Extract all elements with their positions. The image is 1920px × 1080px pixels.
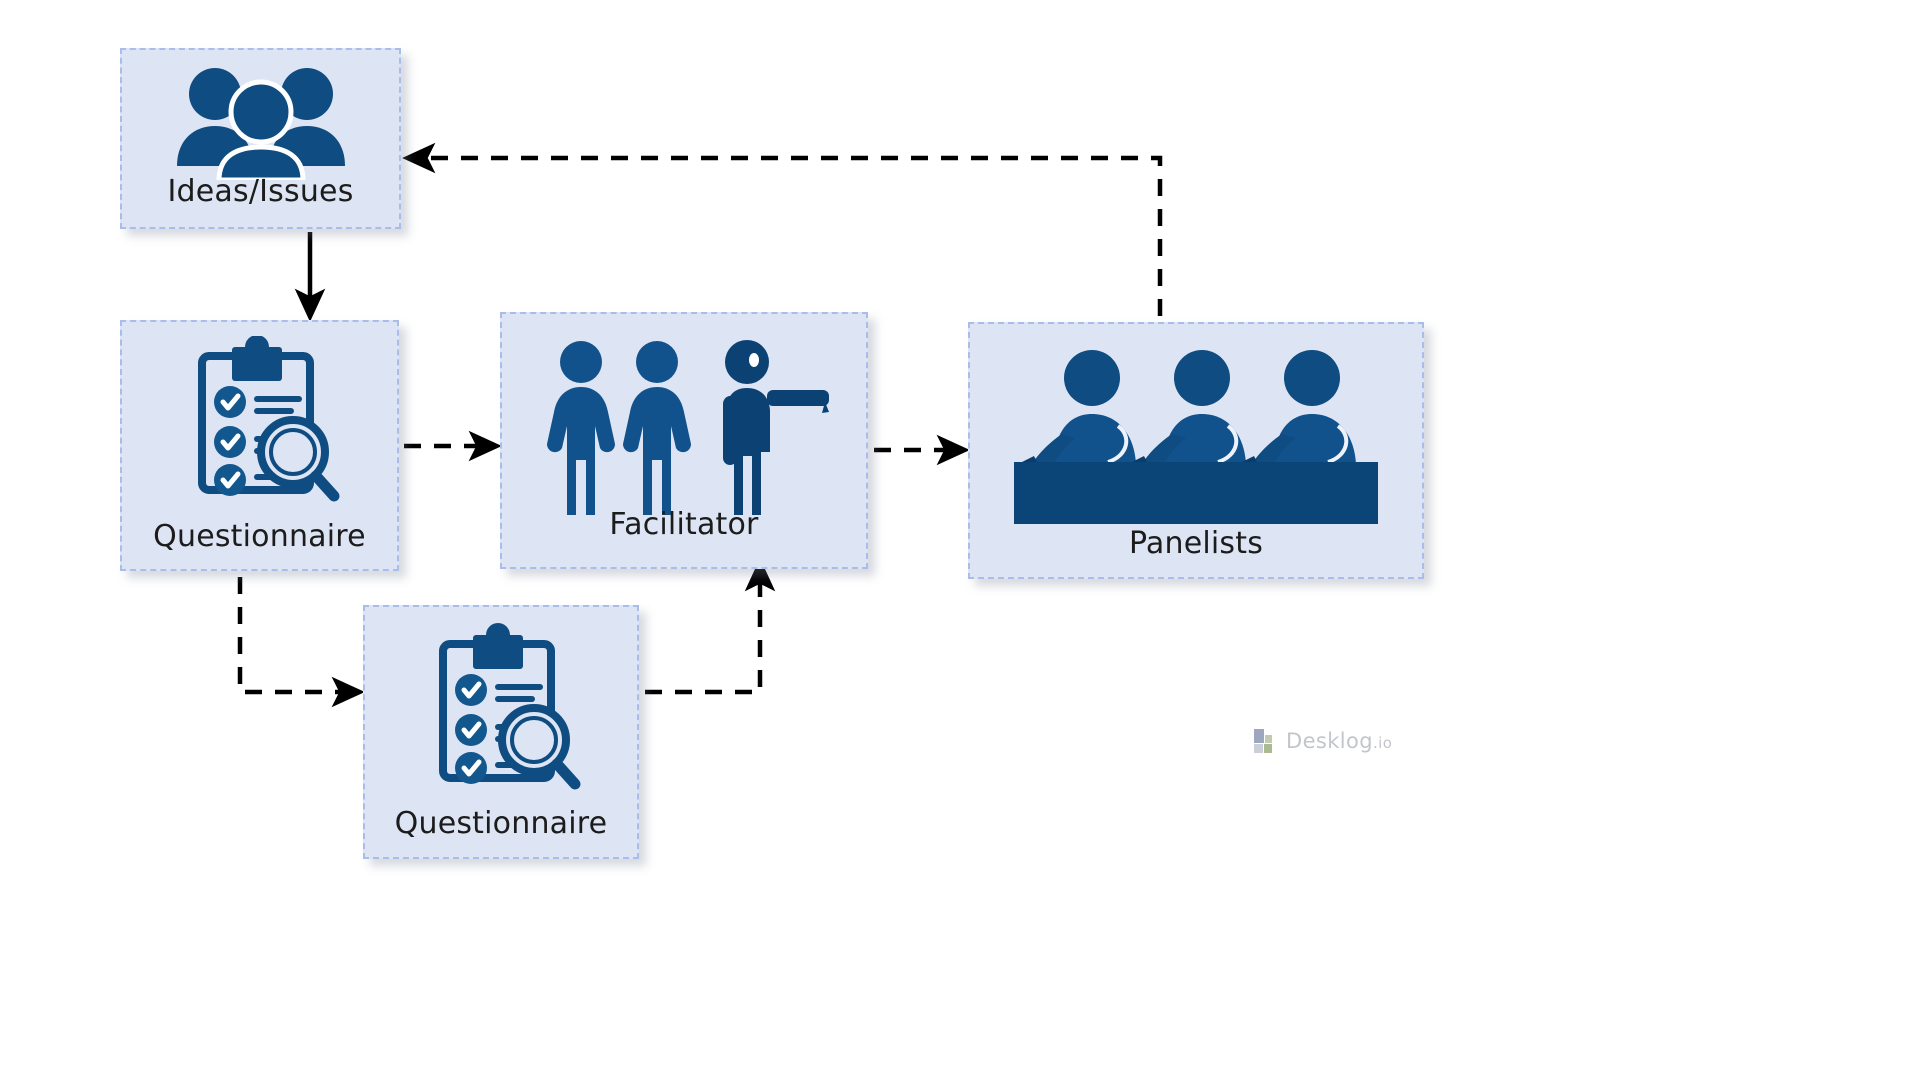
desklog-logo-icon [1253, 728, 1279, 754]
connector-panelists-to-ideas [412, 158, 1160, 316]
diagram-canvas: Ideas/Issues [0, 0, 1920, 1080]
node-label: Panelists [970, 528, 1422, 560]
node-questionnaire-bottom[interactable]: Questionnaire [363, 605, 639, 859]
three-people-pointing-icon [502, 340, 866, 515]
node-label: Ideas/Issues [122, 176, 399, 208]
node-label: Questionnaire [122, 521, 397, 553]
watermark-suffix: .io [1373, 734, 1392, 752]
clipboard-checklist-magnifier-icon [365, 623, 637, 793]
node-questionnaire-top[interactable]: Questionnaire [120, 320, 399, 571]
node-label: Facilitator [502, 509, 866, 541]
people-group-icon [122, 62, 399, 180]
watermark: Desklog.io [1253, 728, 1392, 754]
clipboard-checklist-magnifier-icon [122, 336, 397, 504]
node-facilitator[interactable]: Facilitator [500, 312, 868, 569]
connector-questionnaire2-to-facilitator [645, 568, 760, 692]
connector-questionnaire1-to-questionnaire2 [240, 577, 355, 692]
watermark-name: Desklog [1286, 729, 1373, 753]
panel-seated-people-icon [970, 338, 1422, 528]
node-panelists[interactable]: Panelists [968, 322, 1424, 579]
node-ideas-issues[interactable]: Ideas/Issues [120, 48, 401, 229]
watermark-text: Desklog.io [1286, 729, 1392, 753]
node-label: Questionnaire [365, 808, 637, 840]
